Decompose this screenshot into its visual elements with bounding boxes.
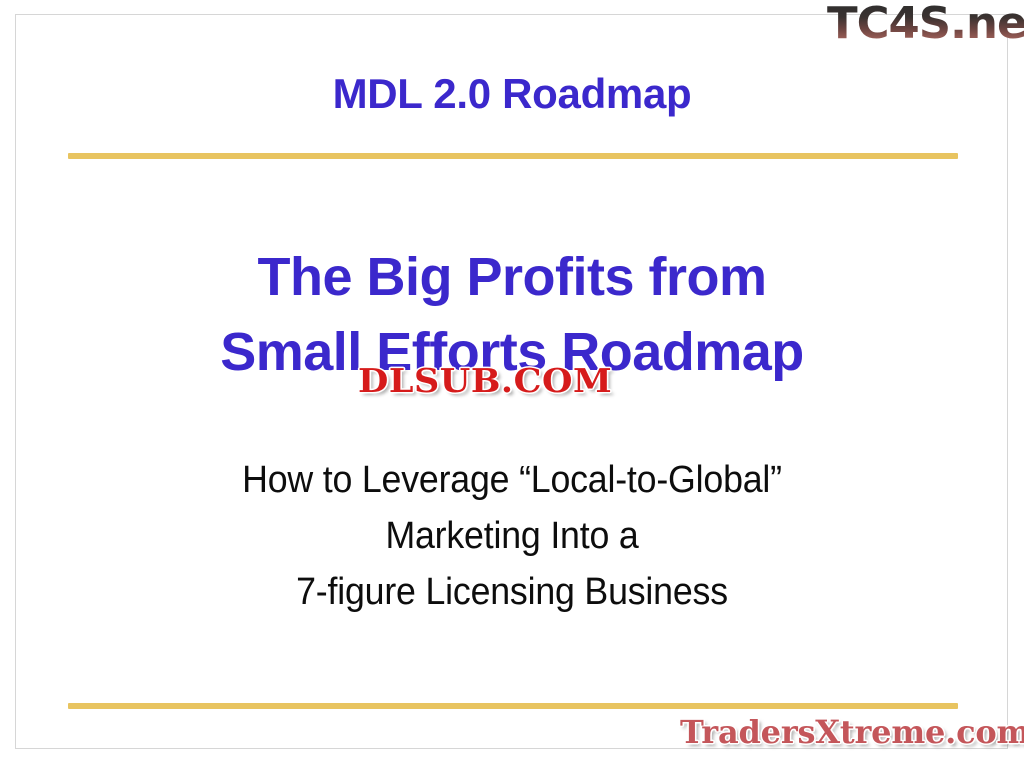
subtitle-line-2: Marketing Into a: [31, 508, 994, 564]
tradersxtreme-com-watermark: TradersXtreme.com: [680, 716, 1024, 748]
divider-rule-bottom: [68, 703, 958, 709]
slide-canvas: TC4S.net MDL 2.0 Roadmap The Big Profits…: [0, 0, 1024, 768]
dlsub-com-watermark: DLSUB.COM: [358, 364, 612, 397]
divider-rule-top: [68, 153, 958, 159]
subtitle-line-3: 7-figure Licensing Business: [31, 564, 994, 620]
subtitle-line-1: How to Leverage “Local-to-Global”: [31, 452, 994, 508]
headline-line-1: The Big Profits from: [0, 240, 1024, 315]
subtitle-block: How to Leverage “Local-to-Global” Market…: [31, 452, 994, 621]
slide-title: MDL 2.0 Roadmap: [0, 72, 1024, 116]
tc4s-net-watermark: TC4S.net: [827, 2, 1024, 46]
